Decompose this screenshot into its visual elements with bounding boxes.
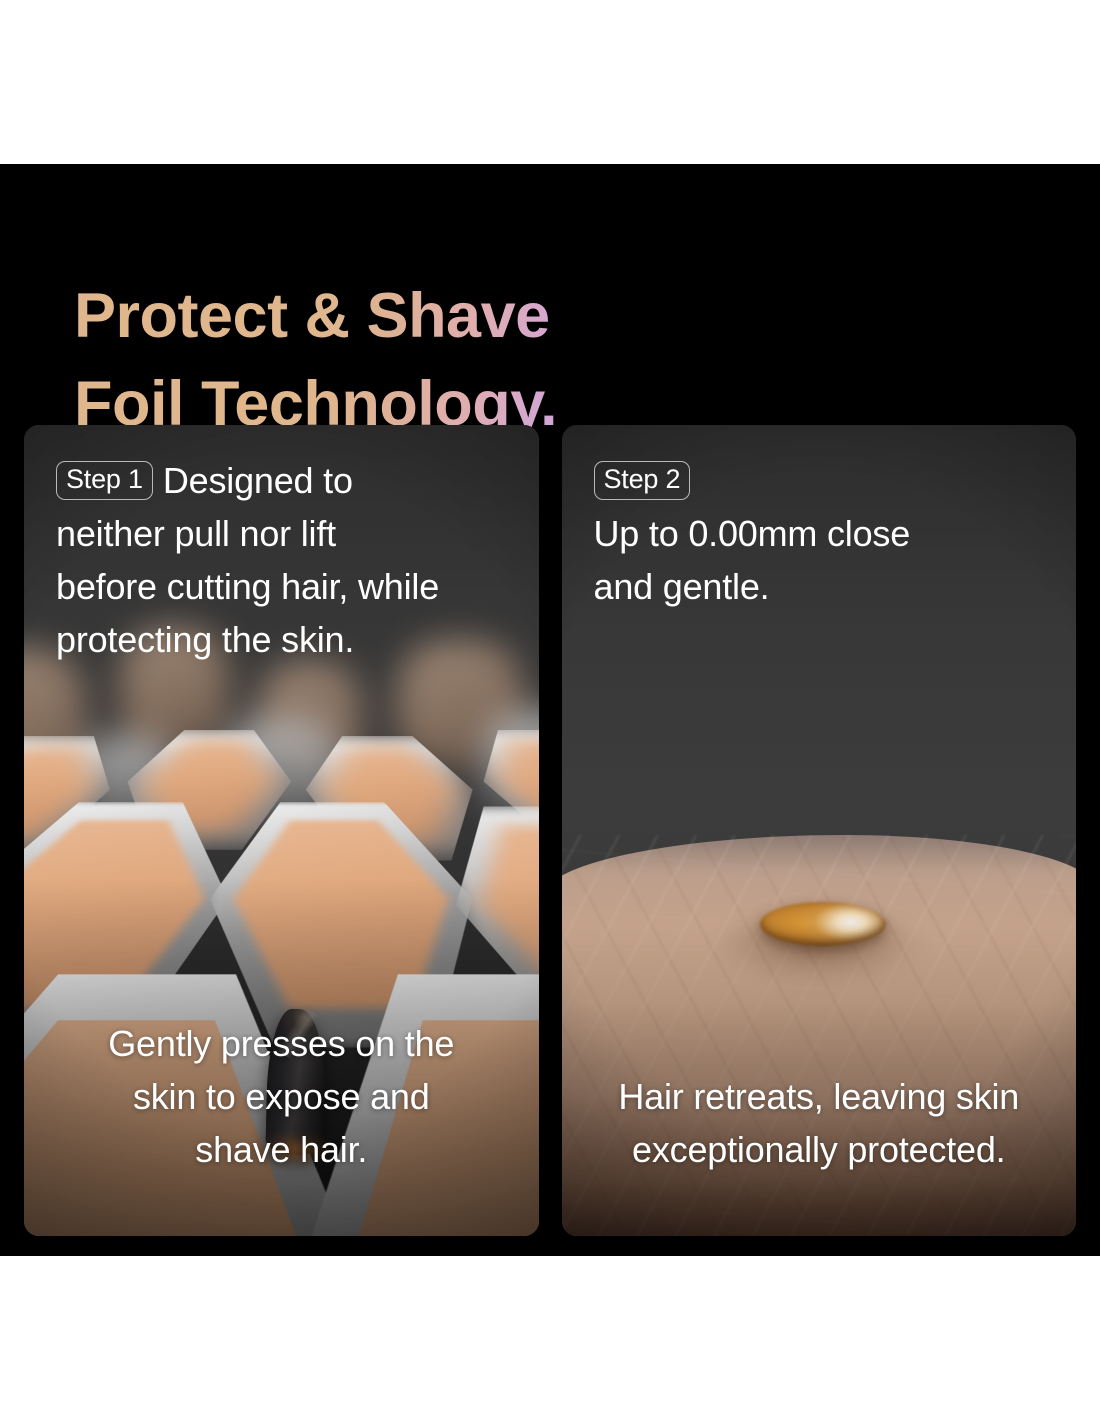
step-2-body-text: Up to 0.00mm close and gentle. [594, 507, 1047, 613]
steps-container: Step 1Designed to neither pull nor lift … [24, 425, 1076, 1236]
step-1-headline-fragment: Designed to [163, 460, 353, 501]
step-2-heading-block: Step 2 Up to 0.00mm close and gentle. [562, 425, 1077, 613]
step-1-first-line: Step 1Designed to [56, 454, 509, 507]
step-2-caption: Hair retreats, leaving skin exceptionall… [562, 1070, 1077, 1236]
step-card-2: Step 2 Up to 0.00mm close and gentle. Ha… [562, 425, 1077, 1236]
step-badge-2: Step 2 [594, 461, 691, 500]
step-badge-1: Step 1 [56, 461, 153, 500]
promo-canvas: Protect & Shave Foil Technology. [0, 164, 1100, 1256]
step-1-heading-block: Step 1Designed to neither pull nor lift … [24, 425, 539, 666]
step-2-first-line: Step 2 [594, 454, 1047, 507]
step-card-1: Step 1Designed to neither pull nor lift … [24, 425, 539, 1236]
step-1-body-text: neither pull nor lift before cutting hai… [56, 507, 509, 666]
step-1-caption: Gently presses on the skin to expose and… [24, 1017, 539, 1236]
page-title: Protect & Shave Foil Technology. [74, 272, 774, 448]
